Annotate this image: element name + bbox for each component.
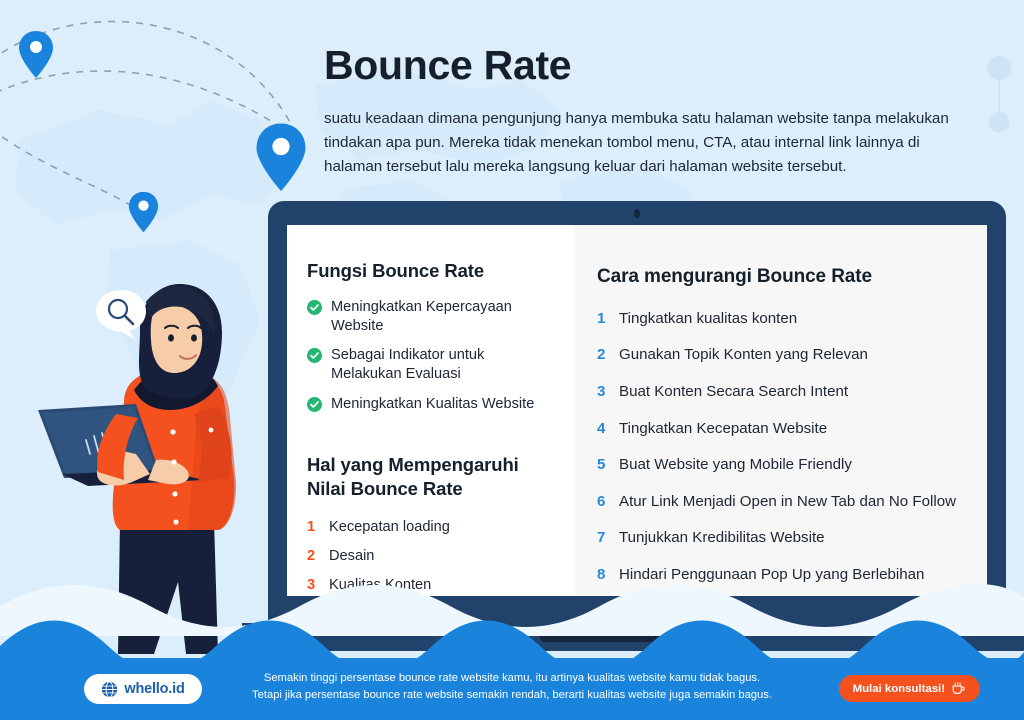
- list-item: Sebagai Indikator untuk Melakukan Evalua…: [307, 346, 557, 383]
- footer-line-2: Tetapi jika persentase bounce rate websi…: [232, 687, 792, 704]
- list-item-number: 5: [597, 455, 608, 475]
- page-description: suatu keadaan dimana pengunjung hanya me…: [324, 107, 964, 179]
- page-title: Bounce Rate: [324, 44, 984, 87]
- list-item-label: Meningkatkan Kepercayaan Website: [331, 298, 557, 335]
- list-item-label: Tingkatkan Kecepatan Website: [619, 419, 827, 439]
- list-item-label: Desain: [329, 547, 374, 566]
- list-item-number: 1: [307, 518, 318, 537]
- list-item-number: 4: [597, 419, 608, 439]
- list-item-label: Buat Website yang Mobile Friendly: [619, 455, 852, 475]
- cara-mengurangi-list: 1 Tingkatkan kualitas konten 2 Gunakan T…: [597, 309, 965, 585]
- hal-mempengaruhi-section-title: Hal yang Mempengaruhi Nilai Bounce Rate: [307, 453, 557, 499]
- green-check-icon: [307, 397, 322, 412]
- map-pin-1: [18, 30, 54, 80]
- header-block: Bounce Rate suatu keadaan dimana pengunj…: [324, 44, 984, 179]
- list-item-number: 3: [597, 382, 608, 402]
- infographic-canvas: Bounce Rate suatu keadaan dimana pengunj…: [0, 0, 1024, 720]
- list-item: Meningkatkan Kualitas Website: [307, 395, 557, 414]
- list-item: 6 Atur Link Menjadi Open in New Tab dan …: [597, 492, 965, 512]
- list-item-label: Tunjukkan Kredibilitas Website: [619, 528, 825, 548]
- laptop-screen: Fungsi Bounce Rate Meningkatkan Kepercay…: [287, 225, 987, 596]
- right-content-column: Cara mengurangi Bounce Rate 1 Tingkatkan…: [575, 225, 987, 596]
- list-item: 4 Tingkatkan Kecepatan Website: [597, 419, 965, 439]
- list-item-number: 2: [597, 345, 608, 365]
- list-item-label: Tingkatkan kualitas konten: [619, 309, 797, 329]
- globe-icon: [101, 681, 118, 698]
- list-item: Meningkatkan Kepercayaan Website: [307, 298, 557, 335]
- laptop-mockup: Fungsi Bounce Rate Meningkatkan Kepercay…: [268, 201, 1006, 633]
- list-item-label: Meningkatkan Kualitas Website: [331, 395, 534, 414]
- start-consultation-button[interactable]: Mulai konsultasi!: [839, 675, 980, 702]
- list-item-number: 2: [307, 547, 318, 566]
- map-pin-3: [128, 191, 159, 234]
- footer-caption: Semakin tinggi persentase bounce rate we…: [232, 670, 792, 704]
- camera-dot-icon: [634, 209, 640, 218]
- logo-label: whello.id: [124, 681, 184, 697]
- green-check-icon: [307, 300, 322, 315]
- cara-mengurangi-section-title: Cara mengurangi Bounce Rate: [597, 265, 965, 289]
- search-speech-bubble: [92, 288, 150, 342]
- list-item-label: Buat Konten Secara Search Intent: [619, 382, 848, 402]
- map-pin-2: [255, 122, 307, 194]
- list-item: 5 Buat Website yang Mobile Friendly: [597, 455, 965, 475]
- list-item-number: 7: [597, 528, 608, 548]
- left-content-column: Fungsi Bounce Rate Meningkatkan Kepercay…: [287, 225, 575, 596]
- list-item: 3 Buat Konten Secara Search Intent: [597, 382, 965, 402]
- list-item: 2 Desain: [307, 547, 557, 566]
- list-item: 2 Gunakan Topik Konten yang Relevan: [597, 345, 965, 365]
- list-item-number: 6: [597, 492, 608, 512]
- coffee-cup-icon: [951, 682, 966, 695]
- list-item-label: Kecepatan loading: [329, 518, 450, 537]
- list-item: 7 Tunjukkan Kredibilitas Website: [597, 528, 965, 548]
- fungsi-section-title: Fungsi Bounce Rate: [307, 259, 557, 282]
- list-item-number: 1: [597, 309, 608, 329]
- green-check-icon: [307, 348, 322, 363]
- list-item: 1 Kecepatan loading: [307, 518, 557, 537]
- list-item-label: Sebagai Indikator untuk Melakukan Evalua…: [331, 346, 557, 383]
- list-item-label: Gunakan Topik Konten yang Relevan: [619, 345, 868, 365]
- cta-label: Mulai konsultasi!: [853, 683, 945, 695]
- list-item-label: Atur Link Menjadi Open in New Tab dan No…: [619, 492, 956, 512]
- whello-logo[interactable]: whello.id: [84, 674, 202, 704]
- list-item: 1 Tingkatkan kualitas konten: [597, 309, 965, 329]
- fungsi-list: Meningkatkan Kepercayaan Website Sebagai…: [307, 298, 557, 413]
- footer-line-1: Semakin tinggi persentase bounce rate we…: [232, 670, 792, 687]
